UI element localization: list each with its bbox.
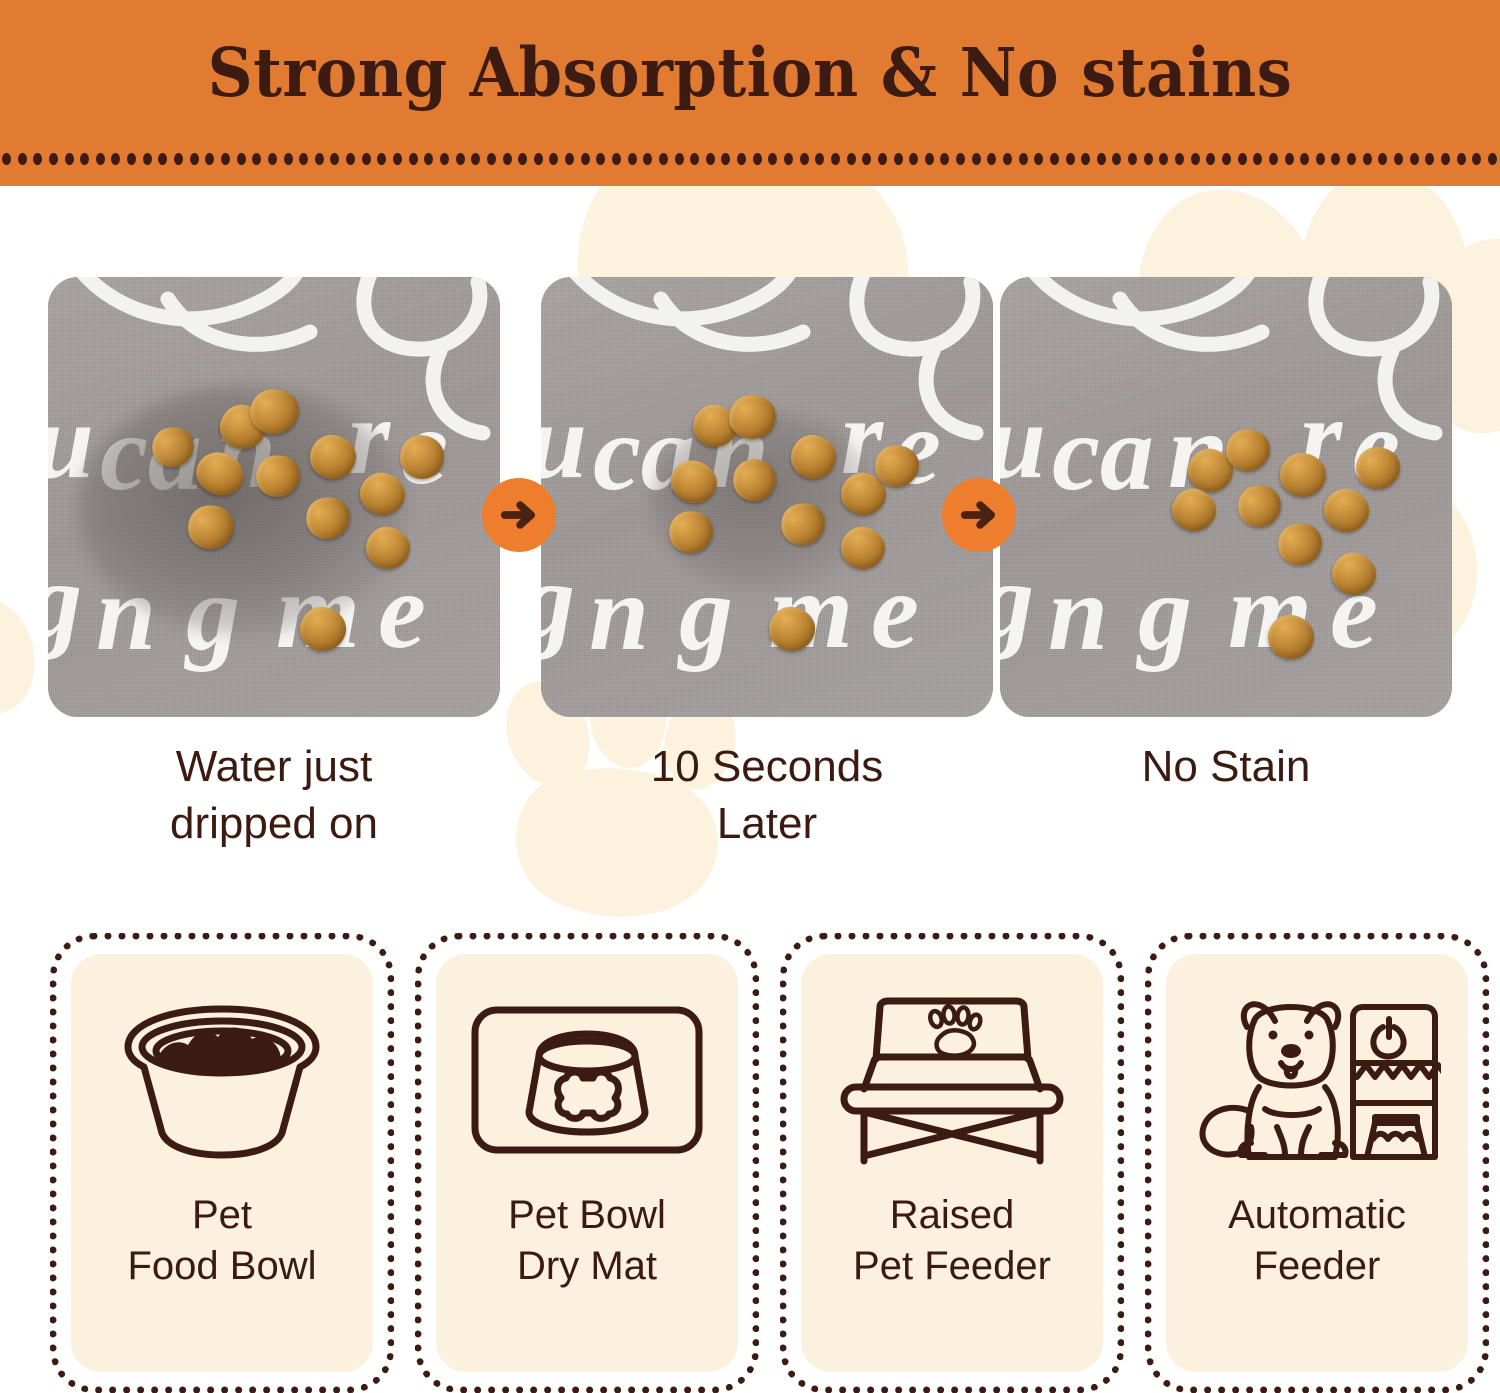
divider-dot <box>1347 153 1356 165</box>
usage-card-label: Raised Pet Feeder <box>801 1190 1103 1292</box>
divider-dot <box>2 153 11 165</box>
divider-dot <box>127 153 136 165</box>
svg-text:g: g <box>1000 542 1034 661</box>
divider-dot <box>518 153 527 165</box>
divider-dot <box>252 153 261 165</box>
divider-dot <box>1378 153 1387 165</box>
divider-dot <box>1019 153 1028 165</box>
divider-dot <box>440 153 449 165</box>
usage-card-pet-food-bowl[interactable]: Pet Food Bowl <box>50 933 394 1393</box>
divider-dot <box>1441 153 1450 165</box>
divider-dot <box>190 153 199 165</box>
raised-feeder-icon <box>827 984 1077 1176</box>
divider-dot <box>456 153 465 165</box>
divider-dot <box>49 153 58 165</box>
divider-dot <box>158 153 167 165</box>
demo-caption-ten-seconds: 10 Seconds Later <box>541 738 993 852</box>
divider-dot <box>1331 153 1340 165</box>
divider-dot <box>299 153 308 165</box>
demo-photo-no-stain: u ca n r e g n g m e <box>1000 277 1452 717</box>
divider-dot <box>1316 153 1325 165</box>
divider-dot <box>330 153 339 165</box>
divider-dot <box>596 153 605 165</box>
divider-dot <box>18 153 27 165</box>
divider-dot <box>831 153 840 165</box>
svg-text:g: g <box>48 542 82 661</box>
svg-text:g: g <box>1136 554 1192 673</box>
divider-dot <box>1175 153 1184 165</box>
divider-dot <box>581 153 590 165</box>
svg-text:u: u <box>541 382 587 501</box>
divider-dot <box>65 153 74 165</box>
divider-dot <box>940 153 949 165</box>
divider-dot <box>1066 153 1075 165</box>
usage-card-automatic-feeder[interactable]: Automatic Feeder <box>1145 933 1489 1393</box>
svg-text:n: n <box>589 554 649 673</box>
divider-dot <box>1097 153 1106 165</box>
demo-caption-water-dripped: Water just dripped on <box>48 738 500 852</box>
divider-dot <box>487 153 496 165</box>
infographic-page: Strong Absorption & No stains u ca <box>0 0 1500 1393</box>
divider-dot <box>1472 153 1481 165</box>
divider-dot <box>894 153 903 165</box>
svg-text:u: u <box>1000 382 1046 501</box>
divider-dot <box>268 153 277 165</box>
divider-dot <box>753 153 762 165</box>
divider-dot <box>565 153 574 165</box>
divider-dot <box>784 153 793 165</box>
divider-dot <box>1253 153 1262 165</box>
divider-dot <box>377 153 386 165</box>
usage-scenarios-row: Pet Food Bowl Pet Bowl Dry Mat <box>0 925 1500 1393</box>
divider-dot <box>503 153 512 165</box>
dog-food-bowl-icon <box>97 984 347 1176</box>
page-title: Strong Absorption & No stains <box>53 33 1448 112</box>
divider-dot <box>1222 153 1231 165</box>
divider-dot <box>1191 153 1200 165</box>
header-dotted-divider <box>0 152 1500 166</box>
divider-dot <box>1003 153 1012 165</box>
divider-dot <box>659 153 668 165</box>
bowl-dry-mat-icon <box>462 984 712 1176</box>
divider-dot <box>628 153 637 165</box>
mat-printed-lettering: u ca n r e g n g m e <box>1000 277 1452 717</box>
divider-dot <box>800 153 809 165</box>
divider-dot <box>956 153 965 165</box>
usage-card-pet-bowl-dry-mat[interactable]: Pet Bowl Dry Mat <box>415 933 759 1393</box>
divider-dot <box>424 153 433 165</box>
arrow-step-1 <box>482 478 556 552</box>
divider-dot <box>721 153 730 165</box>
divider-dot <box>768 153 777 165</box>
arrow-step-2 <box>942 478 1016 552</box>
divider-dot <box>690 153 699 165</box>
divider-dot <box>1410 153 1419 165</box>
divider-dot <box>1112 153 1121 165</box>
divider-dot <box>346 153 355 165</box>
demo-photo-water-dripped: u ca n r e g n g m e <box>48 277 500 717</box>
card-inner-panel: Pet Bowl Dry Mat <box>436 954 738 1372</box>
demo-photo-ten-seconds: u ca n r e g n g m e <box>541 277 993 717</box>
svg-text:n: n <box>1048 554 1108 673</box>
divider-dot <box>534 153 543 165</box>
divider-dot <box>1488 153 1497 165</box>
card-inner-panel: Automatic Feeder <box>1166 954 1468 1372</box>
automatic-feeder-icon <box>1192 984 1442 1176</box>
divider-dot <box>409 153 418 165</box>
divider-dot <box>1394 153 1403 165</box>
divider-dot <box>862 153 871 165</box>
card-inner-panel: Pet Food Bowl <box>71 954 373 1372</box>
divider-dot <box>315 153 324 165</box>
divider-dot <box>737 153 746 165</box>
divider-dot <box>612 153 621 165</box>
divider-dot <box>1363 153 1372 165</box>
divider-dot <box>706 153 715 165</box>
divider-dot <box>675 153 684 165</box>
arrow-right-icon <box>957 493 1001 537</box>
demo-caption-no-stain: No Stain <box>1000 738 1452 795</box>
divider-dot <box>987 153 996 165</box>
svg-text:g: g <box>541 542 575 661</box>
divider-dot <box>143 153 152 165</box>
divider-dot <box>1081 153 1090 165</box>
header-banner: Strong Absorption & No stains <box>0 0 1500 186</box>
divider-dot <box>1238 153 1247 165</box>
divider-dot <box>909 153 918 165</box>
divider-dot <box>1034 153 1043 165</box>
divider-dot <box>96 153 105 165</box>
divider-dot <box>237 153 246 165</box>
divider-dot <box>205 153 214 165</box>
divider-dot <box>1128 153 1137 165</box>
divider-dot <box>284 153 293 165</box>
svg-text:e: e <box>871 552 919 671</box>
divider-dot <box>1159 153 1168 165</box>
divider-dot <box>878 153 887 165</box>
usage-card-label: Pet Bowl Dry Mat <box>436 1190 738 1292</box>
usage-card-label: Automatic Feeder <box>1166 1190 1468 1292</box>
divider-dot <box>643 153 652 165</box>
divider-dot <box>1457 153 1466 165</box>
divider-dot <box>393 153 402 165</box>
divider-dot <box>1206 153 1215 165</box>
usage-card-label: Pet Food Bowl <box>71 1190 373 1292</box>
divider-dot <box>1050 153 1059 165</box>
svg-text:ca: ca <box>1052 394 1154 513</box>
absorption-demo-strip: u ca n r e g n g m e <box>0 186 1500 746</box>
divider-dot <box>33 153 42 165</box>
divider-dot <box>847 153 856 165</box>
divider-dot <box>1300 153 1309 165</box>
divider-dot <box>549 153 558 165</box>
divider-dot <box>471 153 480 165</box>
divider-dot <box>1144 153 1153 165</box>
divider-dot <box>174 153 183 165</box>
divider-dot <box>221 153 230 165</box>
divider-dot <box>80 153 89 165</box>
divider-dot <box>362 153 371 165</box>
arrow-right-icon <box>497 493 541 537</box>
divider-dot <box>1425 153 1434 165</box>
divider-dot <box>815 153 824 165</box>
divider-dot <box>1285 153 1294 165</box>
divider-dot <box>111 153 120 165</box>
divider-dot <box>972 153 981 165</box>
divider-dot <box>925 153 934 165</box>
card-inner-panel: Raised Pet Feeder <box>801 954 1103 1372</box>
usage-card-raised-pet-feeder[interactable]: Raised Pet Feeder <box>780 933 1124 1393</box>
divider-dot <box>1269 153 1278 165</box>
